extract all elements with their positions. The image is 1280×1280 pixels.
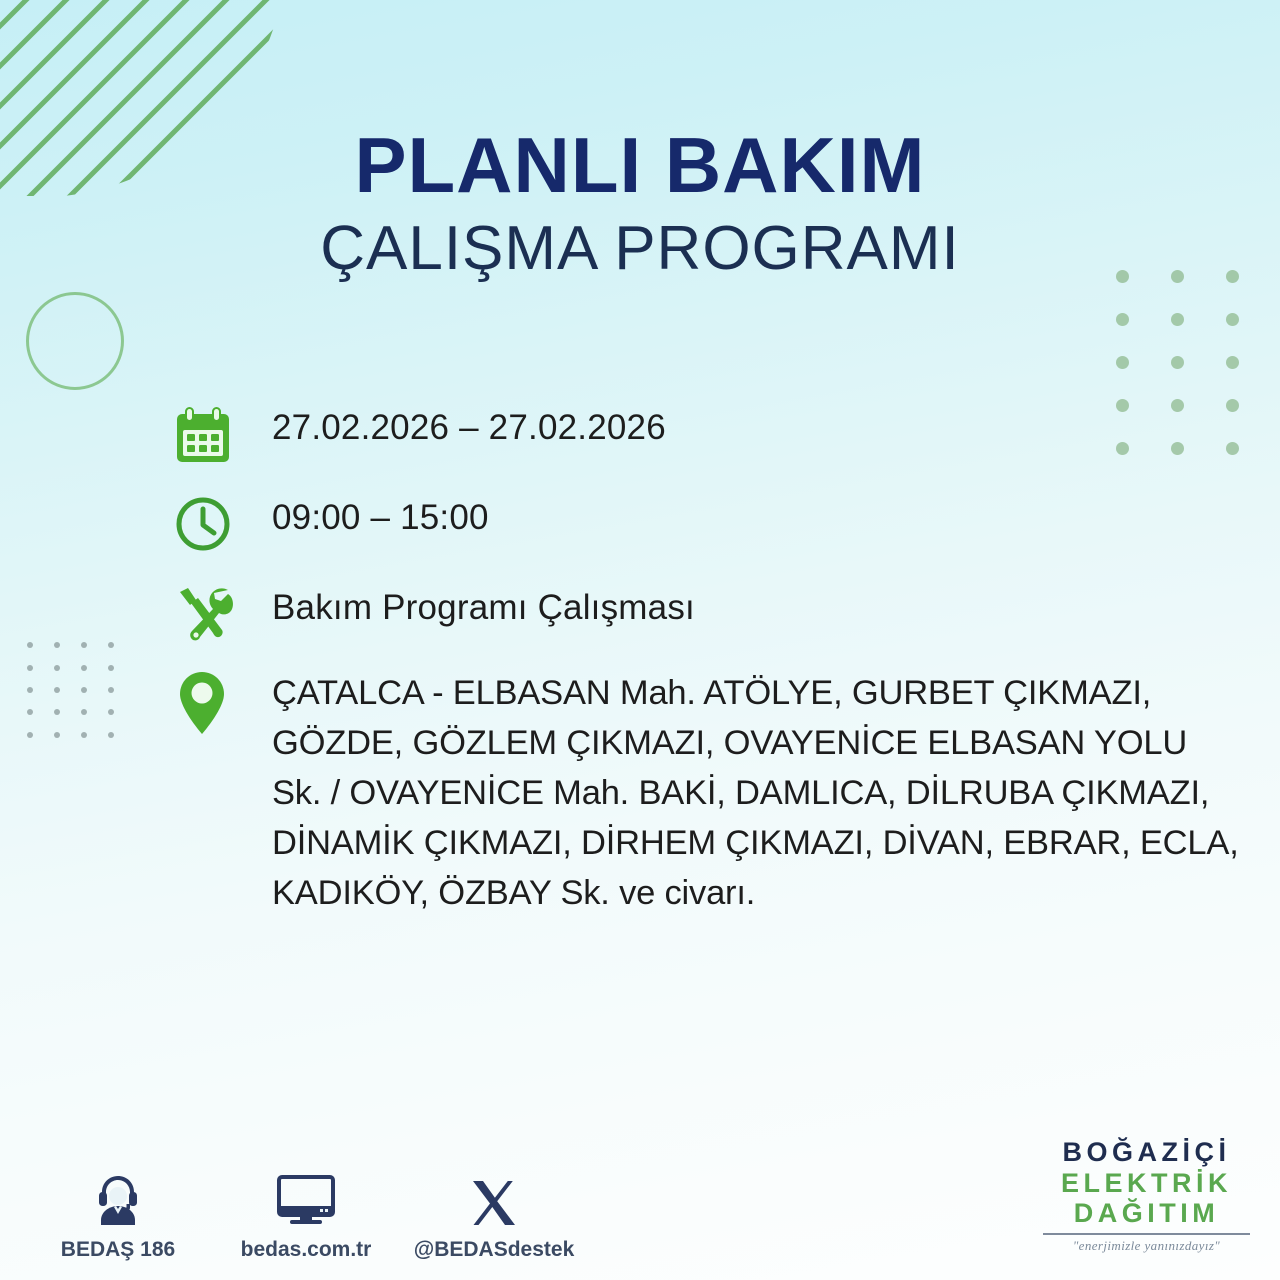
date-range-text: 27.02.2026 – 27.02.2026 bbox=[272, 404, 666, 445]
info-row-date: 27.02.2026 – 27.02.2026 bbox=[176, 404, 1240, 464]
calendar-icon bbox=[176, 404, 272, 464]
page-subtitle: ÇALIŞMA PROGRAMI bbox=[0, 216, 1280, 281]
location-pin-icon bbox=[176, 668, 272, 736]
page-title: PLANLI BAKIM bbox=[0, 126, 1280, 204]
info-row-address: ÇATALCA - ELBASAN Mah. ATÖLYE, GURBET ÇI… bbox=[176, 668, 1240, 918]
dot-grid-decoration-left bbox=[16, 634, 124, 746]
contact-item-website[interactable]: bedas.com.tr bbox=[240, 1168, 372, 1262]
logo-line-elektrik: ELEKTRİK bbox=[1039, 1168, 1254, 1198]
logo-line-bogazici: BOĞAZİÇİ bbox=[1039, 1137, 1254, 1167]
poster-canvas: PLANLI BAKIM ÇALIŞMA PROGRAMI bbox=[0, 0, 1280, 1280]
address-text: ÇATALCA - ELBASAN Mah. ATÖLYE, GURBET ÇI… bbox=[272, 668, 1240, 918]
page-footer: BEDAŞ 186 bedas.com.tr bbox=[0, 1110, 1280, 1280]
call-center-agent-icon bbox=[90, 1168, 146, 1228]
logo-tagline: "enerjimizle yanınızdayız" bbox=[1039, 1238, 1254, 1254]
logo-line-dagitim: DAĞITIM bbox=[1039, 1198, 1254, 1228]
time-range-text: 09:00 – 15:00 bbox=[272, 494, 489, 535]
outage-info-block: 27.02.2026 – 27.02.2026 09:00 – 15:00 bbox=[176, 404, 1240, 944]
x-twitter-icon bbox=[469, 1168, 519, 1228]
circle-outline-decoration bbox=[26, 292, 124, 390]
contact-item-x[interactable]: @BEDASdestek bbox=[428, 1168, 560, 1262]
page-header: PLANLI BAKIM ÇALIŞMA PROGRAMI bbox=[0, 126, 1280, 281]
contact-list: BEDAŞ 186 bedas.com.tr bbox=[52, 1168, 560, 1262]
info-row-work-type: Bakım Programı Çalışması bbox=[176, 584, 1240, 642]
bedas-logo: BOĞAZİÇİ ELEKTRİK DAĞITIM "enerjimizle y… bbox=[1039, 1137, 1254, 1254]
contact-label-phone: BEDAŞ 186 bbox=[61, 1238, 175, 1262]
contact-item-phone[interactable]: BEDAŞ 186 bbox=[52, 1168, 184, 1262]
info-row-time: 09:00 – 15:00 bbox=[176, 494, 1240, 552]
logo-divider bbox=[1043, 1233, 1250, 1235]
work-type-text: Bakım Programı Çalışması bbox=[272, 584, 695, 625]
contact-label-website: bedas.com.tr bbox=[241, 1238, 372, 1262]
contact-label-x: @BEDASdestek bbox=[414, 1238, 575, 1262]
clock-icon bbox=[176, 494, 272, 552]
monitor-icon bbox=[276, 1168, 336, 1228]
tools-icon bbox=[176, 584, 272, 642]
